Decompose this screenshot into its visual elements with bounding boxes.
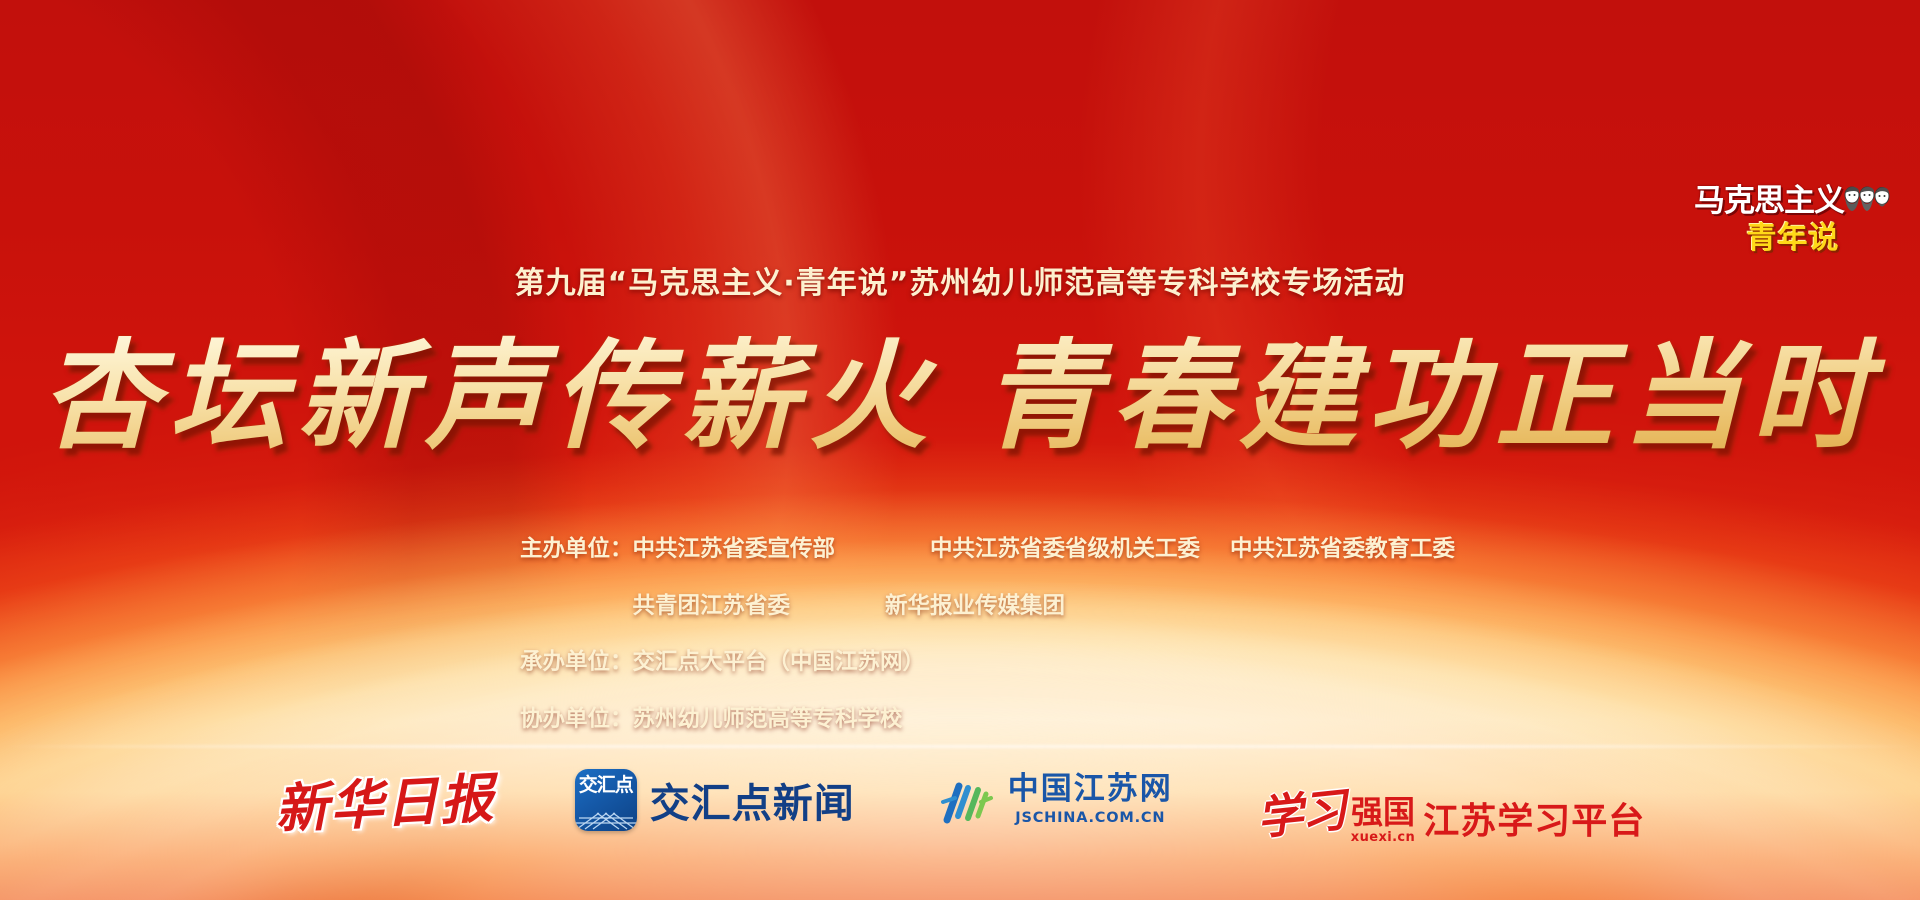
xuexi-platform-text: 江苏学习平台 xyxy=(1423,792,1645,844)
jschina-en-domain: JSCHINA.COM.CN xyxy=(1015,811,1165,826)
xuexi-domain-text: xuexi.cn xyxy=(1351,831,1415,844)
poster-content: 马克思主义 xyxy=(0,0,1920,900)
organizer-row-host: 主办单位： 中共江苏省委宣传部 中共江苏省委省级机关工委 中共江苏省委教育工委 xyxy=(0,538,1920,561)
organizer-value: 共青团江苏省委 xyxy=(633,595,791,618)
portrait-lenin-icon xyxy=(1872,184,1892,214)
organizer-row-host-2: 主办单位： 共青团江苏省委 新华报业传媒集团 xyxy=(0,595,1920,618)
three-portraits-icon xyxy=(1847,184,1892,214)
organizer-value: 中共江苏省委省级机关工委 xyxy=(930,538,1200,561)
badge-sub-text: 青年说 xyxy=(1688,224,1898,254)
organizer-label-coorganizer: 协办单位： xyxy=(520,708,633,731)
program-badge: 马克思主义 xyxy=(1688,186,1898,254)
organizers-block: 主办单位： 中共江苏省委宣传部 中共江苏省委省级机关工委 中共江苏省委教育工委 … xyxy=(0,538,1920,730)
badge-main-text: 马克思主义 xyxy=(1694,186,1844,217)
xuexi-brush-wordmark: 学习 xyxy=(1253,774,1347,849)
logo-jiaohuidian: 交汇点 交汇点新闻 xyxy=(575,752,855,848)
organizer-value: 中共江苏省委教育工委 xyxy=(1230,538,1455,561)
jschina-slashes-icon xyxy=(937,772,995,828)
jschina-cn-name: 中国江苏网 xyxy=(1008,774,1173,805)
spacer xyxy=(1200,538,1230,561)
organizer-value: 新华报业传媒集团 xyxy=(885,595,1065,618)
poster-canvas: 马克思主义 xyxy=(0,0,1920,900)
headline-right: 青春建功正当时 xyxy=(983,326,1879,465)
organizer-value: 苏州幼儿师范高等专科学校 xyxy=(633,708,903,731)
xuexi-qiangguo-text: 强国 xyxy=(1351,796,1415,828)
organizer-row-undertaker: 承办单位： 交汇点大平台（中国江苏网） xyxy=(0,651,1920,674)
badge-main-row: 马克思主义 xyxy=(1688,186,1898,217)
jschina-text-block: 中国江苏网 JSCHINA.COM.CN xyxy=(1008,774,1173,826)
logo-xinhua-daily: 新华日报 xyxy=(275,752,575,848)
jiaohuidian-mark-text: 交汇点 xyxy=(579,776,633,795)
organizer-label-host: 主办单位： xyxy=(520,538,633,561)
headline-calligraphy: 杏坛新声传薪火青春建功正当时 xyxy=(0,300,1920,471)
logo-jschina: 中国江苏网 JSCHINA.COM.CN xyxy=(937,752,1173,848)
organizer-value: 交汇点大平台（中国江苏网） xyxy=(633,651,926,674)
logo-xuexi-qiangguo: 学习 强国 xuexi.cn 江苏学习平台 xyxy=(1257,752,1645,848)
xinhua-daily-wordmark: 新华日报 xyxy=(273,756,497,843)
event-subtitle: 第九届“马克思主义·青年说”苏州幼儿师范高等专科学校专场活动 xyxy=(0,258,1920,302)
organizer-row-coorganizer: 协办单位： 苏州幼儿师范高等专科学校 xyxy=(0,708,1920,731)
jiaohuidian-wordmark: 交汇点新闻 xyxy=(650,771,855,829)
jiaohuidian-app-icon: 交汇点 xyxy=(575,769,637,831)
organizer-label-undertaker: 承办单位： xyxy=(520,651,633,674)
jiaohuidian-lines-icon xyxy=(575,805,637,831)
spacer xyxy=(790,595,885,618)
organizer-value: 中共江苏省委宣传部 xyxy=(633,538,836,561)
sponsor-logo-bar: 新华日报 交汇点 交汇点新闻 xyxy=(0,752,1920,848)
headline-left: 杏坛新声传薪火 xyxy=(41,326,937,465)
spacer xyxy=(835,538,930,561)
xuexi-block: 强国 xuexi.cn xyxy=(1351,796,1415,844)
